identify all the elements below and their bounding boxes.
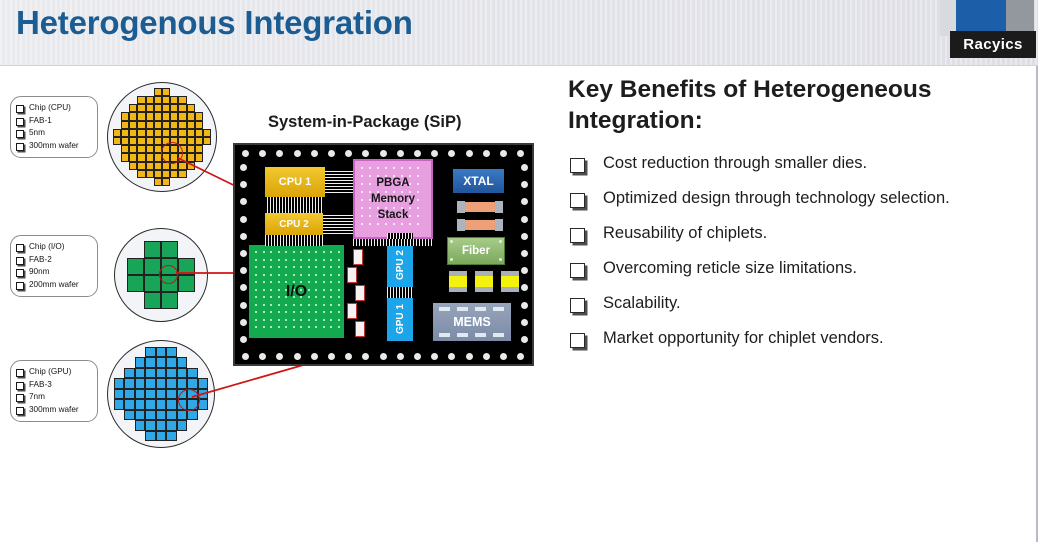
solder-ball [255,251,257,253]
wafer-die [154,104,162,112]
wafer-die [166,368,177,379]
block-label: I/O [286,283,307,301]
solder-ball [255,266,257,268]
solder-ball [300,304,302,306]
bond-wires [265,235,323,246]
fiber-corner-dot [450,240,453,243]
package-bga-ball [521,336,528,343]
solder-ball [330,266,332,268]
wafer-die [177,410,188,421]
block-label: XTAL [463,174,493,188]
package-bga-ball [521,198,528,205]
spec-text: Chip (GPU) [29,366,71,379]
wafer-die [203,129,211,137]
wafer-die [146,153,154,161]
callout-circle-gpu [178,389,200,411]
wafer-die [146,104,154,112]
sip-block-cpu-1: CPU 1 [265,167,325,197]
solder-ball [308,281,310,283]
wafer-die [129,121,137,129]
resistor-body [465,202,495,212]
solder-ball [263,289,265,291]
solder-ball [270,296,272,298]
wafer-die [198,378,209,389]
package-bga-ball [311,353,318,360]
block-label: PBGA Memory Stack [355,175,431,223]
mems-dash [439,307,450,311]
solder-ball [270,274,272,276]
solder-ball [293,326,295,328]
wafer-die [121,153,129,161]
capacitor [355,285,365,301]
checkbox-icon [16,105,24,113]
benefit-text: Reusability of chiplets. [603,222,767,244]
wafer-die [161,241,178,258]
solder-ball [330,304,332,306]
solder-ball [255,326,257,328]
wafer-die [137,121,145,129]
solder-ball [293,259,295,261]
package-bga-ball [240,198,247,205]
led-body [501,276,519,287]
package-bga-ball [380,150,387,157]
wafer-die [170,129,178,137]
checkbox-icon [16,143,24,151]
package-bga-ball [521,233,528,240]
mems-dash [493,333,504,337]
wafer-die [114,378,125,389]
package-bga-ball [240,216,247,223]
solder-ball [323,296,325,298]
solder-ball [278,251,280,253]
sip-block-gpu-2: GPU 2 [387,243,413,287]
solder-ball [338,326,340,328]
solder-ball [330,319,332,321]
wafer-die [121,129,129,137]
sip-block-xtal: XTAL [453,169,504,193]
mems-dash [493,307,504,311]
wafer-die [129,162,137,170]
mems-dash [475,307,486,311]
solder-ball [263,274,265,276]
solder-ball [278,296,280,298]
checkbox-icon [570,158,585,173]
package-bga-ball [500,150,507,157]
spec-text: 90nm [29,266,49,279]
solder-ball [278,326,280,328]
spec-line: FAB-1 [16,115,93,128]
resistor-terminal [495,201,503,213]
wafer-die [162,96,170,104]
spec-text: FAB-2 [29,254,52,267]
led-terminal [475,287,493,292]
solder-ball [323,259,325,261]
solder-ball [315,259,317,261]
package-bga-ball [431,150,438,157]
wafer-die [121,112,129,120]
wafer-die [154,96,162,104]
wafer-die [195,121,203,129]
wafer-die [187,104,195,112]
package-bga-ball [345,353,352,360]
wafer-die [170,112,178,120]
slide-header: Heterogenous Integration Racyics [0,0,1038,66]
solder-ball [293,266,295,268]
wafer-die [162,112,170,120]
package-bga-ball [517,353,524,360]
checkbox-icon [16,382,24,390]
checkbox-icon [570,298,585,313]
wafer-die [154,162,162,170]
solder-ball [315,311,317,313]
spec-text: 5nm [29,127,45,140]
sip-block-fiber: Fiber [447,237,505,265]
solder-ball [308,319,310,321]
package-bga-ball [294,150,301,157]
solder-ball [270,259,272,261]
package-bga-ball [414,353,421,360]
fiber-corner-dot [450,258,453,261]
spec-text: FAB-1 [29,115,52,128]
wafer-die [135,357,146,368]
package-bga-ball [240,250,247,257]
wafer-die [166,389,177,400]
solder-ball [285,259,287,261]
wafer-die [162,104,170,112]
benefit-item: Reusability of chiplets. [570,222,1020,244]
led-body [449,276,467,287]
wafer-die [203,137,211,145]
wafer-die [156,347,167,358]
solder-ball [315,274,317,276]
package-bga-ball [521,302,528,309]
wafer-die [146,137,154,145]
wafer-die [166,347,177,358]
wafer-die [137,162,145,170]
led-terminal [449,287,467,292]
wafer-die [127,275,144,292]
benefit-item: Cost reduction through smaller dies. [570,152,1020,174]
solder-ball [308,304,310,306]
spec-text: 300mm wafer [29,404,79,417]
benefit-item: Overcoming reticle size limitations. [570,257,1020,279]
wafer-die [135,410,146,421]
spec-card-gpu: Chip (GPU) FAB-3 7nm 300mm wafer [10,360,98,422]
sip-block-io: I/O [249,245,344,338]
package-bga-ball [240,267,247,274]
solder-ball [300,319,302,321]
solder-ball [323,274,325,276]
solder-ball [285,304,287,306]
solder-ball [330,274,332,276]
package-bga-ball [448,353,455,360]
wafer-die [145,347,156,358]
capacitor [347,303,357,319]
wafer-die [145,410,156,421]
bond-wires [323,215,353,235]
logo-text: Racyics [950,31,1036,58]
solder-ball [308,259,310,261]
spec-line: FAB-2 [16,254,93,267]
solder-ball [300,274,302,276]
wafer-die [145,389,156,400]
wafer-die [114,399,125,410]
benefits-heading: Key Benefits of Heterogeneous Integratio… [568,74,998,136]
solder-ball [278,289,280,291]
solder-ball [409,223,411,225]
wafer-die [187,129,195,137]
solder-ball [323,289,325,291]
solder-ball [315,281,317,283]
benefit-item: Optimized design through technology sele… [570,187,1020,209]
checkbox-icon [16,407,24,415]
package-bga-ball [276,150,283,157]
package-bga-ball [259,353,266,360]
wafer-die [113,137,121,145]
block-label: CPU 1 [279,176,311,188]
wafer-die [146,145,154,153]
wafer-die [146,96,154,104]
resistor-body [465,220,495,230]
wafer-die [124,389,135,400]
solder-ball [323,304,325,306]
solder-ball [323,311,325,313]
package-bga-ball [362,150,369,157]
solder-ball [393,223,395,225]
solder-ball [369,167,371,169]
wafer-die [195,145,203,153]
wafer-die [170,170,178,178]
solder-ball [330,259,332,261]
solder-ball [293,311,295,313]
solder-ball [278,259,280,261]
wafer-die [137,112,145,120]
solder-ball [338,274,340,276]
wafer-die [121,121,129,129]
solder-ball [285,326,287,328]
solder-ball [255,259,257,261]
package-bga-ball [397,353,404,360]
page-title: Heterogenous Integration [16,4,413,42]
solder-ball [323,326,325,328]
wafer-die [144,292,161,309]
solder-ball [338,251,340,253]
mems-dash [457,307,468,311]
package-bga-ball [466,353,473,360]
solder-ball [285,319,287,321]
wafer-die [144,275,161,292]
solder-ball [315,251,317,253]
bond-wires [267,197,323,213]
solder-ball [338,259,340,261]
package-bga-ball [240,233,247,240]
solder-ball [293,274,295,276]
wafer-die [195,129,203,137]
wafer-die [178,137,186,145]
benefit-text: Overcoming reticle size limitations. [603,257,857,279]
package-bga-ball [521,216,528,223]
wafer-die [146,162,154,170]
callout-circle-cpu [161,142,183,164]
checkbox-icon [16,269,24,277]
spec-line: Chip (GPU) [16,366,93,379]
spec-line: Chip (CPU) [16,102,93,115]
benefit-text: Market opportunity for chiplet vendors. [603,327,884,349]
wafer-die [156,368,167,379]
wafer-die [145,368,156,379]
solder-ball [270,251,272,253]
wafer-die [129,129,137,137]
wafer-die [154,170,162,178]
wafer-die [124,378,135,389]
solder-ball [308,326,310,328]
wafer-die [156,378,167,389]
wafer-die [187,145,195,153]
wafer-die [154,178,162,186]
wafer-die [154,129,162,137]
solder-ball [315,266,317,268]
checkbox-icon [570,333,585,348]
fiber-corner-dot [499,240,502,243]
wafer-die [178,275,195,292]
solder-ball [263,304,265,306]
solder-ball [323,281,325,283]
wafer-die [195,112,203,120]
benefits-list: Cost reduction through smaller dies. Opt… [570,152,1020,362]
wafer-die [137,137,145,145]
wafer-die [156,420,167,431]
solder-ball [315,296,317,298]
package-bga-ball [521,250,528,257]
solder-ball [285,274,287,276]
solder-ball [385,167,387,169]
spec-text: Chip (CPU) [29,102,71,115]
checkbox-icon [570,263,585,278]
package-bga-ball [380,353,387,360]
solder-ball [308,289,310,291]
package-bga-ball [242,150,249,157]
wafer-die [124,399,135,410]
solder-ball [385,223,387,225]
solder-ball [338,296,340,298]
package-bga-ball [483,353,490,360]
solder-ball [285,266,287,268]
solder-ball [255,274,257,276]
solder-ball [369,223,371,225]
mems-dash [475,333,486,337]
wafer-die [129,153,137,161]
checkbox-icon [16,282,24,290]
package-bga-ball [362,353,369,360]
wafer-die [187,112,195,120]
package-bga-ball [345,150,352,157]
solder-ball [308,274,310,276]
spec-text: 7nm [29,391,45,404]
wafer-die [195,137,203,145]
wafer-die [195,153,203,161]
wafer-die [129,104,137,112]
wafer-die [156,410,167,421]
wafer-die [166,410,177,421]
wafer-die [144,241,161,258]
solder-ball [338,311,340,313]
package-bga-ball [276,353,283,360]
wafer-die [187,137,195,145]
solder-ball [401,167,403,169]
wafer-die [114,389,125,400]
wafer-die [145,431,156,442]
wafer-die [137,153,145,161]
wafer-die [166,378,177,389]
checkbox-icon [16,130,24,138]
wafer-die [166,420,177,431]
spec-text: Chip (I/O) [29,241,65,254]
capacitor [347,267,357,283]
solder-ball [361,223,363,225]
package-bga-ball [240,336,247,343]
wafer-die [170,121,178,129]
package-bga-ball [397,150,404,157]
solder-ball [308,251,310,253]
package-bga-ball [466,150,473,157]
solder-ball [308,266,310,268]
spec-line: 200mm wafer [16,279,93,292]
spec-text: FAB-3 [29,379,52,392]
solder-ball [330,296,332,298]
solder-ball [300,266,302,268]
solder-ball [315,319,317,321]
sip-block-gpu-1: GPU 1 [387,297,413,341]
spec-card-cpu: Chip (CPU) FAB-1 5nm 300mm wafer [10,96,98,158]
wafer-die-grid [108,83,216,191]
solder-ball [270,319,272,321]
solder-ball [293,319,295,321]
led-body [475,276,493,287]
package-bga-ball [242,353,249,360]
wafer-die [178,258,195,275]
solder-ball [293,251,295,253]
wafer-die [154,121,162,129]
wafer-die [135,420,146,431]
wafer-die [135,368,146,379]
checkbox-icon [570,228,585,243]
block-label: Fiber [462,245,490,257]
wafer-die [145,399,156,410]
solder-ball [263,259,265,261]
wafer-die [137,170,145,178]
wafer-die [121,145,129,153]
solder-ball [263,311,265,313]
solder-ball [278,319,280,321]
callout-circle-io [159,265,178,284]
solder-ball [330,281,332,283]
solder-ball [263,281,265,283]
solder-ball [330,311,332,313]
solder-ball [393,167,395,169]
solder-ball [285,251,287,253]
package-bga-ball [414,150,421,157]
wafer-die [127,258,144,275]
package-bga-ball [240,284,247,291]
wafer-die [177,357,188,368]
wafer-die [145,378,156,389]
block-label: CPU 2 [279,219,308,230]
wafer-die [154,137,162,145]
bond-wires [353,239,433,246]
wafer-cpu [107,82,217,192]
wafer-die [113,129,121,137]
package-bga-ball [259,150,266,157]
